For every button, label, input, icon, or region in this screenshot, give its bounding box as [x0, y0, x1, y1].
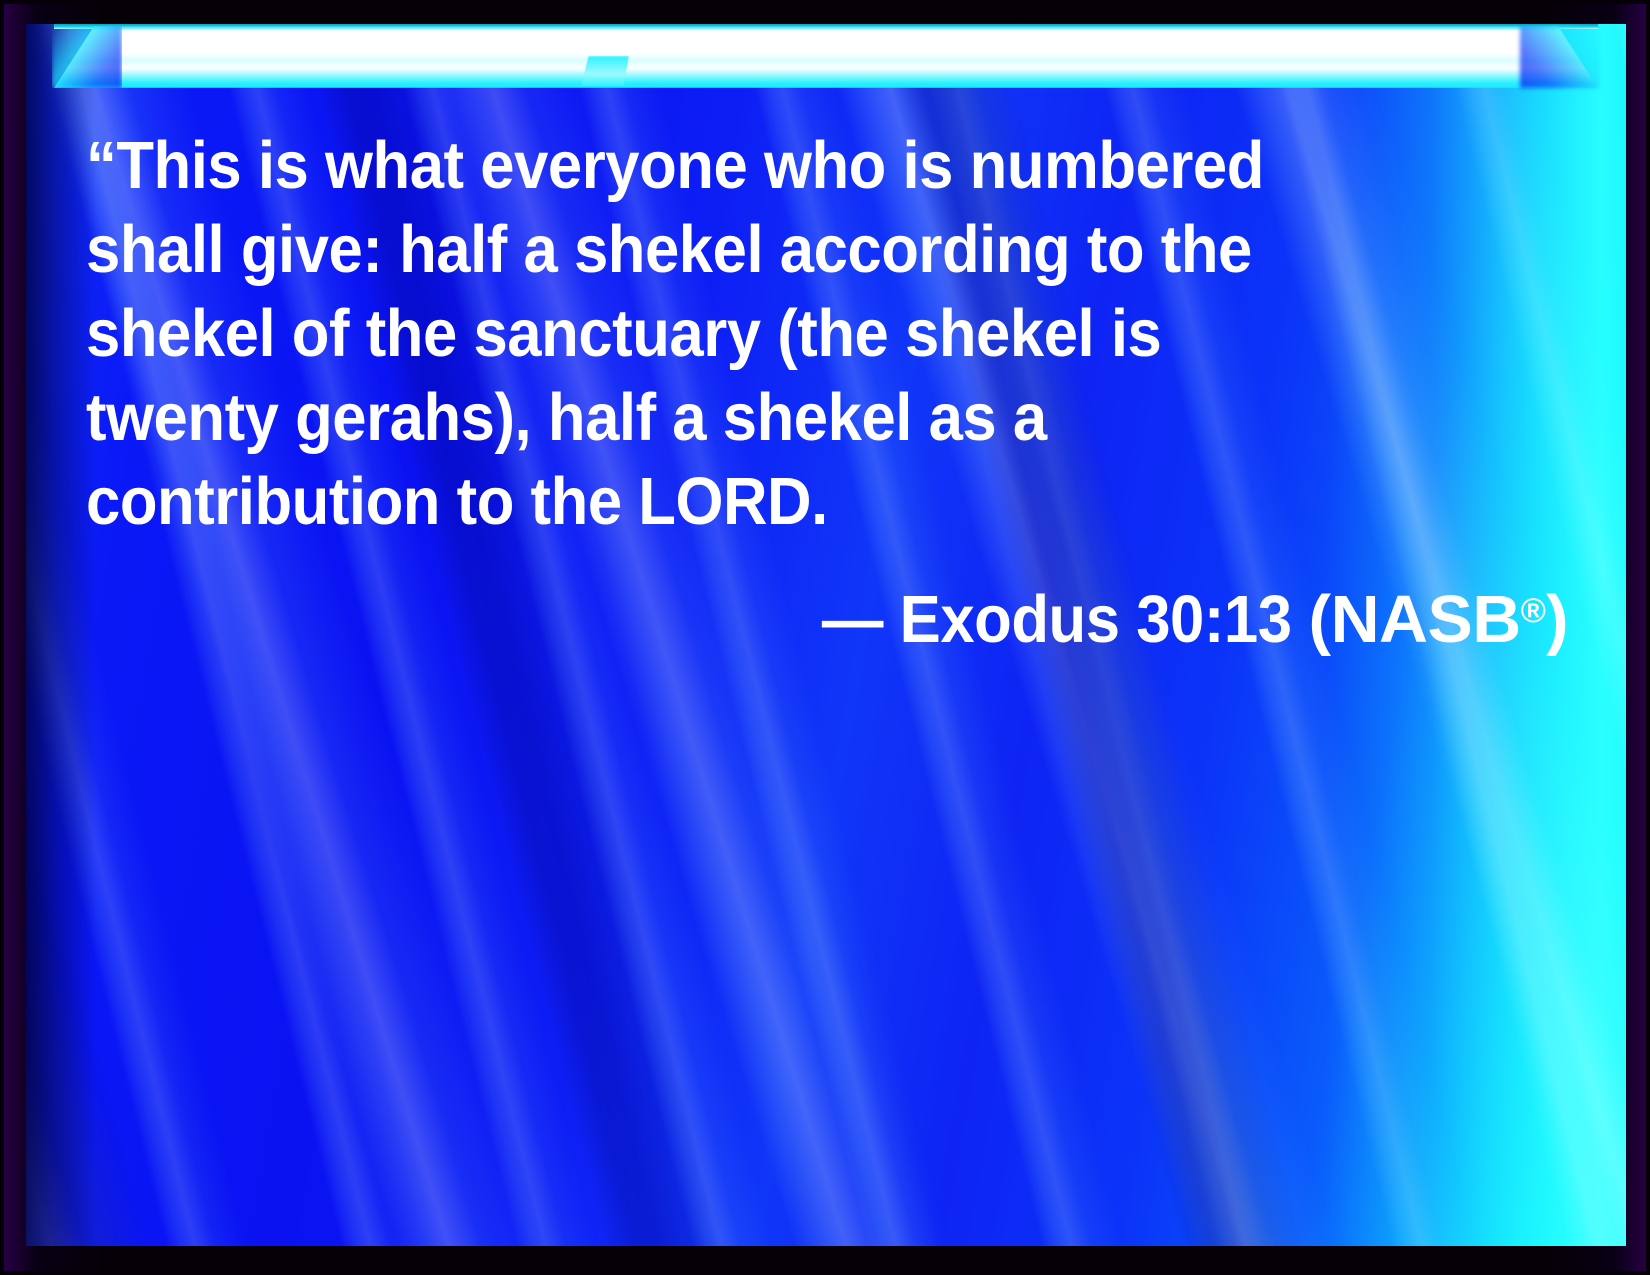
verse-line: twenty gerahs), half a shekel as a — [86, 376, 1448, 460]
top-banner — [54, 26, 1598, 88]
slide-canvas: “This is what everyone who is numbered s… — [26, 24, 1626, 1246]
top-banner-left-bevel — [52, 26, 122, 88]
top-banner-right-bevel — [1520, 26, 1600, 88]
verse-line: “This is what everyone who is numbered — [86, 124, 1448, 208]
verse-line: shall give: half a shekel according to t… — [86, 208, 1448, 292]
verse-attribution-text: — Exodus 30:13 (NASB®) — [822, 569, 1544, 662]
slide-frame: “This is what everyone who is numbered s… — [0, 0, 1650, 1275]
attribution-reference: Exodus 30:13 — [899, 582, 1308, 657]
attribution-version-open: (NASB — [1308, 582, 1520, 657]
attribution-version: (NASB®) — [1308, 569, 1568, 662]
attribution-dash: — — [822, 582, 900, 657]
verse-text-block: “This is what everyone who is numbered s… — [86, 124, 1566, 544]
verse-attribution: — Exodus 30:13 (NASB®) — [86, 569, 1566, 662]
registered-trademark-icon: ® — [1520, 592, 1545, 630]
verse-line: shekel of the sanctuary (the shekel is — [86, 292, 1448, 376]
top-banner-notch-icon — [581, 56, 629, 86]
verse-line: contribution to the LORD. — [86, 460, 1448, 544]
attribution-version-close: ) — [1546, 582, 1568, 657]
